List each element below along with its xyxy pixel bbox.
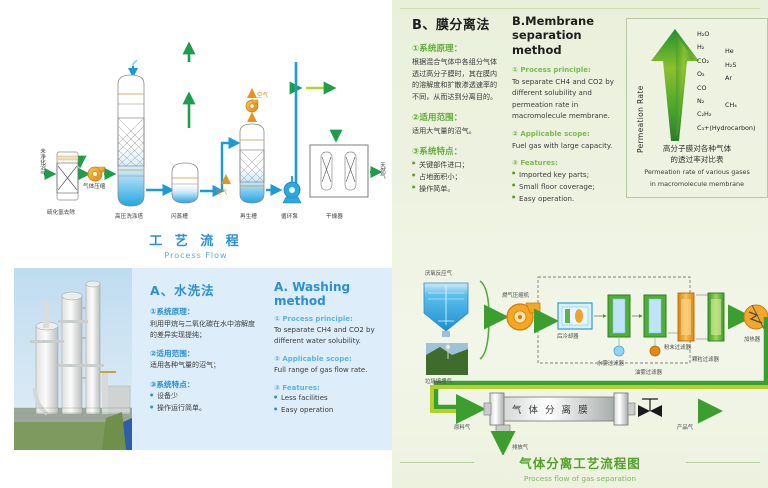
regen-blower-shape <box>246 100 258 112</box>
washing-cn-s1-body: 利用甲烷与二氧化碳在水中溶解度的差异实现提纯； <box>150 319 260 341</box>
permeation-axis-label: Permeation Rate <box>636 45 645 153</box>
h2s-vessel-shape <box>57 152 78 200</box>
right-column: B、膜分离法 ①系统原理： 根据混合气体中各组分气体透过高分子膜时，其在膜内的溶… <box>392 0 768 488</box>
label-natural-gas: 天然气 <box>378 162 386 179</box>
water-mist-filter-icon <box>608 295 630 356</box>
label-particle-filter: 颗粒过滤器 <box>692 355 719 363</box>
label-raw-gas: 未净化沼气 <box>38 148 46 176</box>
gas-name-primary: H₂O <box>697 31 709 37</box>
membrane-cn-s3-item-2: 操作简单。 <box>412 183 504 195</box>
label-h2s-removal: 硫化氢去除 <box>47 208 75 216</box>
membrane-cn-s1-body: 根据混合气体中各组分气体透过高分子膜时，其在膜内的溶解度和扩散渗透速率的不同，从… <box>412 56 504 103</box>
membrane-english-column: B.Membrane separation method ① Process p… <box>512 14 616 205</box>
gas-row: C₂H₂ <box>697 111 767 124</box>
label-anaerobic-gas: 厌氧反应气 <box>425 269 452 277</box>
membrane-en-s1-body: To separate CH4 and CO2 by different sol… <box>512 76 616 121</box>
oil-mist-filter-icon <box>644 295 666 356</box>
landfill-photo-icon <box>426 343 468 375</box>
label-regen-tank: 再生槽 <box>240 212 257 220</box>
label-oil-mist-filter: 油雾过滤器 <box>635 368 662 376</box>
permeation-gas-list: H₂O H₂He CO₂H₂S O₂Ar CO N₂CH₄ C₂H₂ C₃+(H… <box>697 31 767 138</box>
process-flow-diagram: 未净化沼气 硫化氢去除 气体压缩 高压洗涤塔 闪蒸槽 空气 空气 再生槽 循环泵… <box>0 0 392 268</box>
membrane-en-s3-item-0: Imported key parts; <box>512 169 616 181</box>
permeation-arrow-icon <box>649 27 701 143</box>
gas-name-primary: C₃+(Hydrocarbon) <box>697 125 755 131</box>
process-flow-svg <box>0 0 392 232</box>
gas-row: CO₂H₂S <box>697 58 767 71</box>
particle-filter-icon <box>708 293 724 341</box>
washing-cn-s2-title: ②适用范围： <box>150 348 260 359</box>
permeation-caption-cn-2: 的透过率对比表 <box>631 154 763 165</box>
gas-row: C₃+(Hydrocarbon) <box>697 125 767 138</box>
washing-cn-s2-body: 适用各种气量的沼气； <box>150 360 260 371</box>
gas-name-primary: C₂H₂ <box>697 111 711 117</box>
process-flow-title-en: Process Flow <box>0 251 392 260</box>
washing-en-s2-title: ② Applicable scope: <box>274 355 392 363</box>
membrane-cn-s3-item-1: 占地面积小； <box>412 171 504 183</box>
scrubber-column-shape <box>118 75 144 206</box>
membrane-cn-s3-title: ③系统特点： <box>412 145 504 157</box>
membrane-cn-s2-title: ②适用范围： <box>412 111 504 123</box>
membrane-en-s2-title: ② Applicable scope: <box>512 130 616 138</box>
label-landfill-gas: 垃圾填埋气 <box>425 377 452 385</box>
gas-row: H₂He <box>697 44 767 57</box>
membrane-en-s1-title: ① Process principle: <box>512 66 616 74</box>
label-flash-tank: 闪蒸槽 <box>171 212 188 220</box>
process-flow-title-cn: 工 艺 流 程 <box>0 230 392 249</box>
label-membrane: 气 体 分 离 膜 <box>512 402 590 416</box>
gas-row: O₂Ar <box>697 71 767 84</box>
title-rule-right <box>686 462 760 463</box>
flash-tank-shape <box>172 163 198 203</box>
valve-icon <box>638 399 662 417</box>
label-feed-gas: 原料气 <box>454 423 470 431</box>
washing-chinese-column: A、水洗法 ①系统原理： 利用甲烷与二氧化碳在水中溶解度的差异实现提纯； ②适用… <box>150 280 260 414</box>
gas-name-primary: N₂ <box>697 98 704 104</box>
label-air-top: 空气 <box>257 91 268 99</box>
left-column: 未净化沼气 硫化氢去除 气体压缩 高压洗涤塔 闪蒸槽 空气 空气 再生槽 循环泵… <box>0 0 392 488</box>
membrane-en-s3-title: ③ Features: <box>512 159 616 167</box>
membrane-method-section: B、膜分离法 ①系统原理： 根据混合气体中各组分气体透过高分子膜时，其在膜内的溶… <box>404 14 760 199</box>
permeation-rate-chart: Permeation Rate <box>626 18 768 198</box>
infographic-page: 未净化沼气 硫化氢去除 气体压缩 高压洗涤塔 闪蒸槽 空气 空气 再生槽 循环泵… <box>0 0 768 488</box>
washing-en-s3-item-1: Easy operation <box>274 405 392 417</box>
label-compressor: 燃气压缩机 <box>502 291 529 299</box>
top-divider <box>400 8 760 9</box>
plant-photo <box>14 268 132 450</box>
gas-name-primary: CO <box>697 85 707 91</box>
gas-separation-title-en: Process flow of gas separation <box>392 474 768 483</box>
gas-row: N₂CH₄ <box>697 98 767 111</box>
dryer-shape <box>310 145 368 197</box>
washing-heading-en: A. Washing method <box>274 280 392 308</box>
washing-en-s1-title: ① Process principle: <box>274 315 392 323</box>
gas-name-secondary: He <box>725 48 734 54</box>
process-flow-title: 工 艺 流 程 Process Flow <box>0 230 392 260</box>
washing-en-s2-body: Full range of gas flow rate. <box>274 365 392 377</box>
washing-cn-s3-item-1: 操作运行简单。 <box>150 403 260 415</box>
membrane-heading-cn: B、膜分离法 <box>412 14 504 33</box>
membrane-en-s3-item-1: Small floor coverage; <box>512 181 616 193</box>
compressor-shape <box>88 167 105 181</box>
label-product-gas: 产品气 <box>677 423 693 431</box>
permeation-caption: 高分子膜对各种气体 的透过率对比表 Permeation rate of var… <box>631 143 763 188</box>
gas-name-secondary: H₂S <box>725 62 736 68</box>
washing-heading-cn: A、水洗法 <box>150 280 260 299</box>
gas-separation-diagram: 厌氧反应气 垃圾填埋气 燃气压缩机 后冷却器 水雾过滤器 油雾过滤器 粉末过滤器… <box>392 255 768 488</box>
gas-name-secondary: Ar <box>725 75 732 81</box>
gas-name-secondary: CH₄ <box>725 102 737 108</box>
membrane-en-s3-item-2: Easy operation. <box>512 193 616 205</box>
gas-separation-title: 气体分离工艺流程图 Process flow of gas separation <box>392 453 768 483</box>
permeation-caption-cn-1: 高分子膜对各种气体 <box>631 143 763 154</box>
gas-row: CO <box>697 85 767 98</box>
gas-name-primary: H₂ <box>697 44 704 50</box>
permeation-caption-en-2: in macromolecule membrane <box>631 180 763 189</box>
title-rule-left <box>400 462 474 463</box>
label-dryer: 干燥器 <box>326 212 343 220</box>
membrane-heading-en: B.Membrane separation method <box>512 14 616 57</box>
gas-row: H₂O <box>697 31 767 44</box>
label-gas-compression: 气体压缩 <box>83 182 105 190</box>
washing-cn-s1-title: ①系统原理： <box>150 306 260 317</box>
washing-cn-s3-title: ③系统特点： <box>150 379 260 390</box>
membrane-en-s2-body: Fuel gas with large capacity. <box>512 140 616 151</box>
membrane-cn-s2-body: 适用大气量的沼气。 <box>412 125 504 137</box>
label-aftercooler: 后冷却器 <box>557 332 579 340</box>
label-powder-filter: 粉末过滤器 <box>664 343 691 351</box>
label-circulation-pump: 循环泵 <box>281 212 298 220</box>
powder-filter-icon <box>678 293 694 341</box>
washing-en-s3-item-0: Less facilities <box>274 393 392 405</box>
label-vent-gas: 排放气 <box>512 443 528 451</box>
label-scrubber: 高压洗涤塔 <box>115 212 143 220</box>
washing-en-s1-body: To separate CH4 and CO2 by different wat… <box>274 325 392 349</box>
aftercooler-icon <box>558 303 592 329</box>
washing-en-s3-title: ③ Features: <box>274 384 392 392</box>
gas-name-primary: O₂ <box>697 71 705 77</box>
circulation-pump-shape <box>283 176 301 203</box>
washing-cn-s3-item-0: 设备少 <box>150 391 260 403</box>
digester-icon <box>424 283 468 337</box>
membrane-chinese-column: B、膜分离法 ①系统原理： 根据混合气体中各组分气体透过高分子膜时，其在膜内的溶… <box>412 14 504 195</box>
regeneration-tank-shape <box>240 124 264 203</box>
membrane-cn-s1-title: ①系统原理： <box>412 42 504 54</box>
gas-compressor-icon <box>507 303 540 330</box>
gas-name-primary: CO₂ <box>697 58 709 64</box>
label-air-bottom: 空气 <box>216 188 227 196</box>
permeation-caption-en-1: Permeation rate of various gases <box>631 168 763 177</box>
membrane-cn-s3-item-0: 关键部件进口； <box>412 159 504 171</box>
washing-english-column: A. Washing method ① Process principle: T… <box>274 280 392 416</box>
label-water-mist-filter: 水雾过滤器 <box>597 359 624 367</box>
label-heater: 加热器 <box>744 335 760 343</box>
